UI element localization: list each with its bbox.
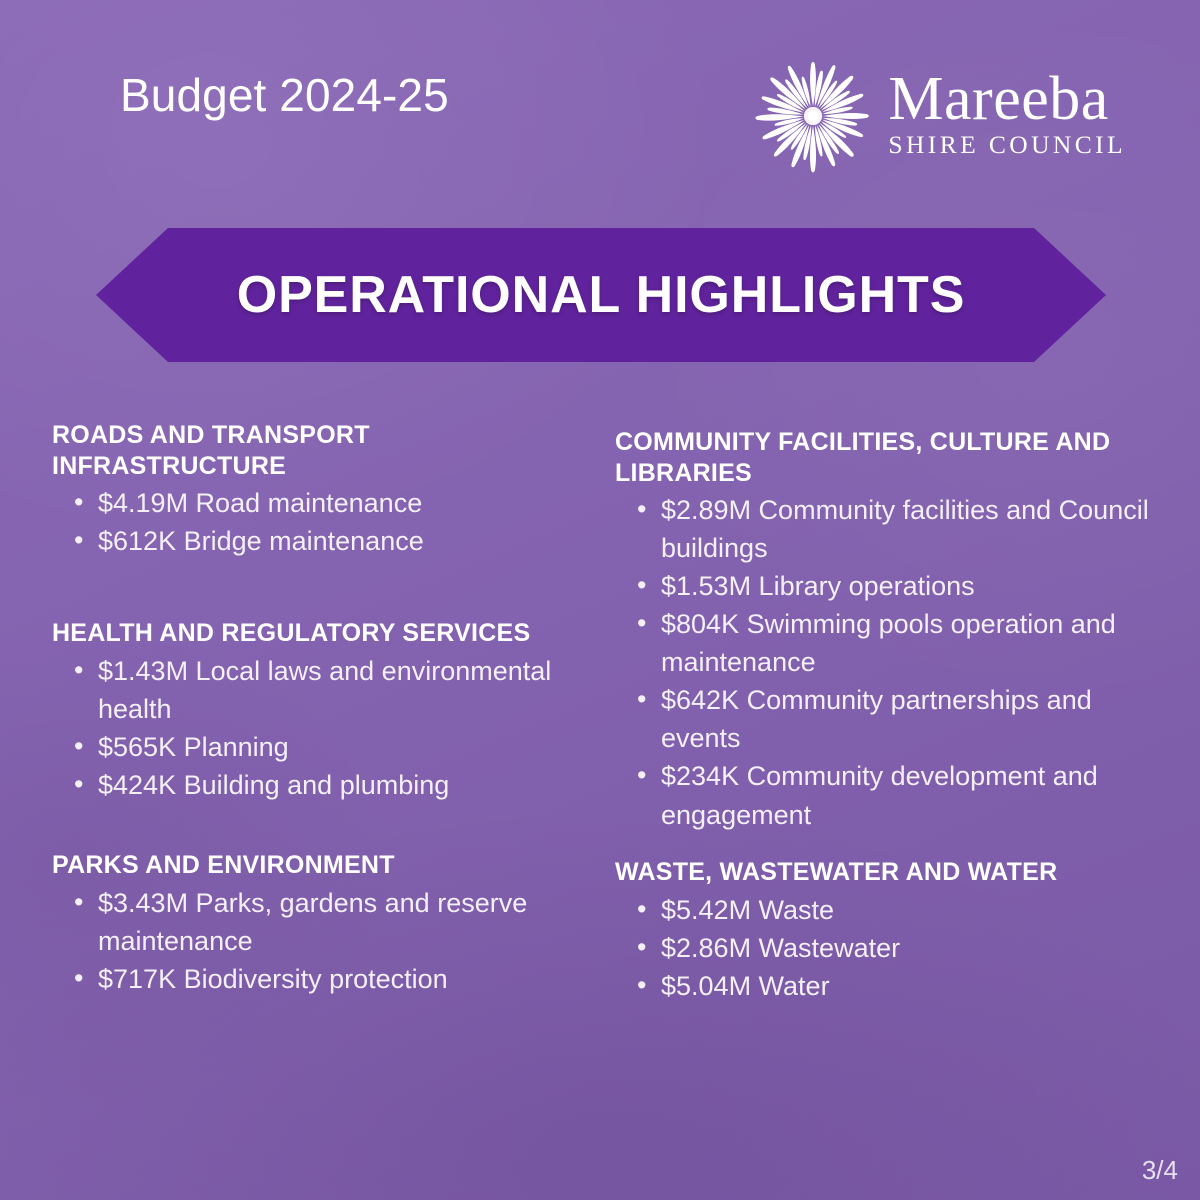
section-heading: PARKS AND ENVIRONMENT — [52, 850, 607, 881]
page-header: Budget 2024-25 — [0, 0, 1200, 205]
section-heading: HEALTH AND REGULATORY SERVICES — [52, 618, 607, 649]
council-logo: Mareeba SHIRE COUNCIL — [752, 55, 1128, 177]
section-roads-and-transport: ROADS AND TRANSPORT INFRASTRUCTURE $4.19… — [52, 420, 607, 560]
budget-title: Budget 2024-25 — [120, 72, 449, 118]
starburst-flower-icon — [752, 55, 874, 177]
list-item: $5.42M Waste — [615, 891, 1175, 929]
list-item: $1.53M Library operations — [615, 567, 1175, 605]
list-item: $565K Planning — [52, 728, 607, 766]
section-heading: ROADS AND TRANSPORT INFRASTRUCTURE — [52, 420, 607, 481]
banner-title: OPERATIONAL HIGHLIGHTS — [96, 228, 1106, 362]
page-footer: Full details msc.qld.gov.au 3/4 — [0, 1040, 1200, 1200]
list-item: $3.43M Parks, gardens and reserve mainte… — [52, 884, 607, 960]
section-heading: WASTE, WASTEWATER AND WATER — [615, 857, 1175, 888]
section-item-list: $5.42M Waste $2.86M Wastewater $5.04M Wa… — [615, 891, 1175, 1005]
list-item: $642K Community partnerships and events — [615, 681, 1175, 757]
list-item: $717K Biodiversity protection — [52, 960, 607, 998]
logo-council-name: Mareeba — [888, 69, 1128, 130]
list-item: $2.86M Wastewater — [615, 929, 1175, 967]
list-item: $234K Community development and engageme… — [615, 757, 1175, 833]
section-waste-wastewater-water: WASTE, WASTEWATER AND WATER $5.42M Waste… — [615, 857, 1175, 1005]
list-item: $424K Building and plumbing — [52, 766, 607, 804]
logo-council-subtitle: SHIRE COUNCIL — [888, 132, 1128, 159]
list-item: $5.04M Water — [615, 967, 1175, 1005]
section-health-and-regulatory: HEALTH AND REGULATORY SERVICES $1.43M Lo… — [52, 618, 607, 804]
section-parks-and-environment: PARKS AND ENVIRONMENT $3.43M Parks, gard… — [52, 850, 607, 998]
section-item-list: $4.19M Road maintenance $612K Bridge mai… — [52, 484, 607, 560]
list-item: $4.19M Road maintenance — [52, 484, 607, 522]
section-heading: COMMUNITY FACILITIES, CULTURE AND LIBRAR… — [615, 427, 1175, 488]
highlights-content: ROADS AND TRANSPORT INFRASTRUCTURE $4.19… — [0, 420, 1200, 1040]
list-item: $804K Swimming pools operation and maint… — [615, 605, 1175, 681]
section-item-list: $1.43M Local laws and environmental heal… — [52, 652, 607, 804]
list-item: $612K Bridge maintenance — [52, 522, 607, 560]
section-item-list: $2.89M Community facilities and Council … — [615, 491, 1175, 834]
list-item: $2.89M Community facilities and Council … — [615, 491, 1175, 567]
page-indicator: 3/4 — [1142, 1155, 1178, 1186]
section-item-list: $3.43M Parks, gardens and reserve mainte… — [52, 884, 607, 998]
logo-wordmark: Mareeba SHIRE COUNCIL — [888, 69, 1128, 163]
list-item: $1.43M Local laws and environmental heal… — [52, 652, 607, 728]
operational-highlights-banner: OPERATIONAL HIGHLIGHTS — [96, 228, 1106, 362]
section-community-facilities: COMMUNITY FACILITIES, CULTURE AND LIBRAR… — [615, 427, 1175, 834]
